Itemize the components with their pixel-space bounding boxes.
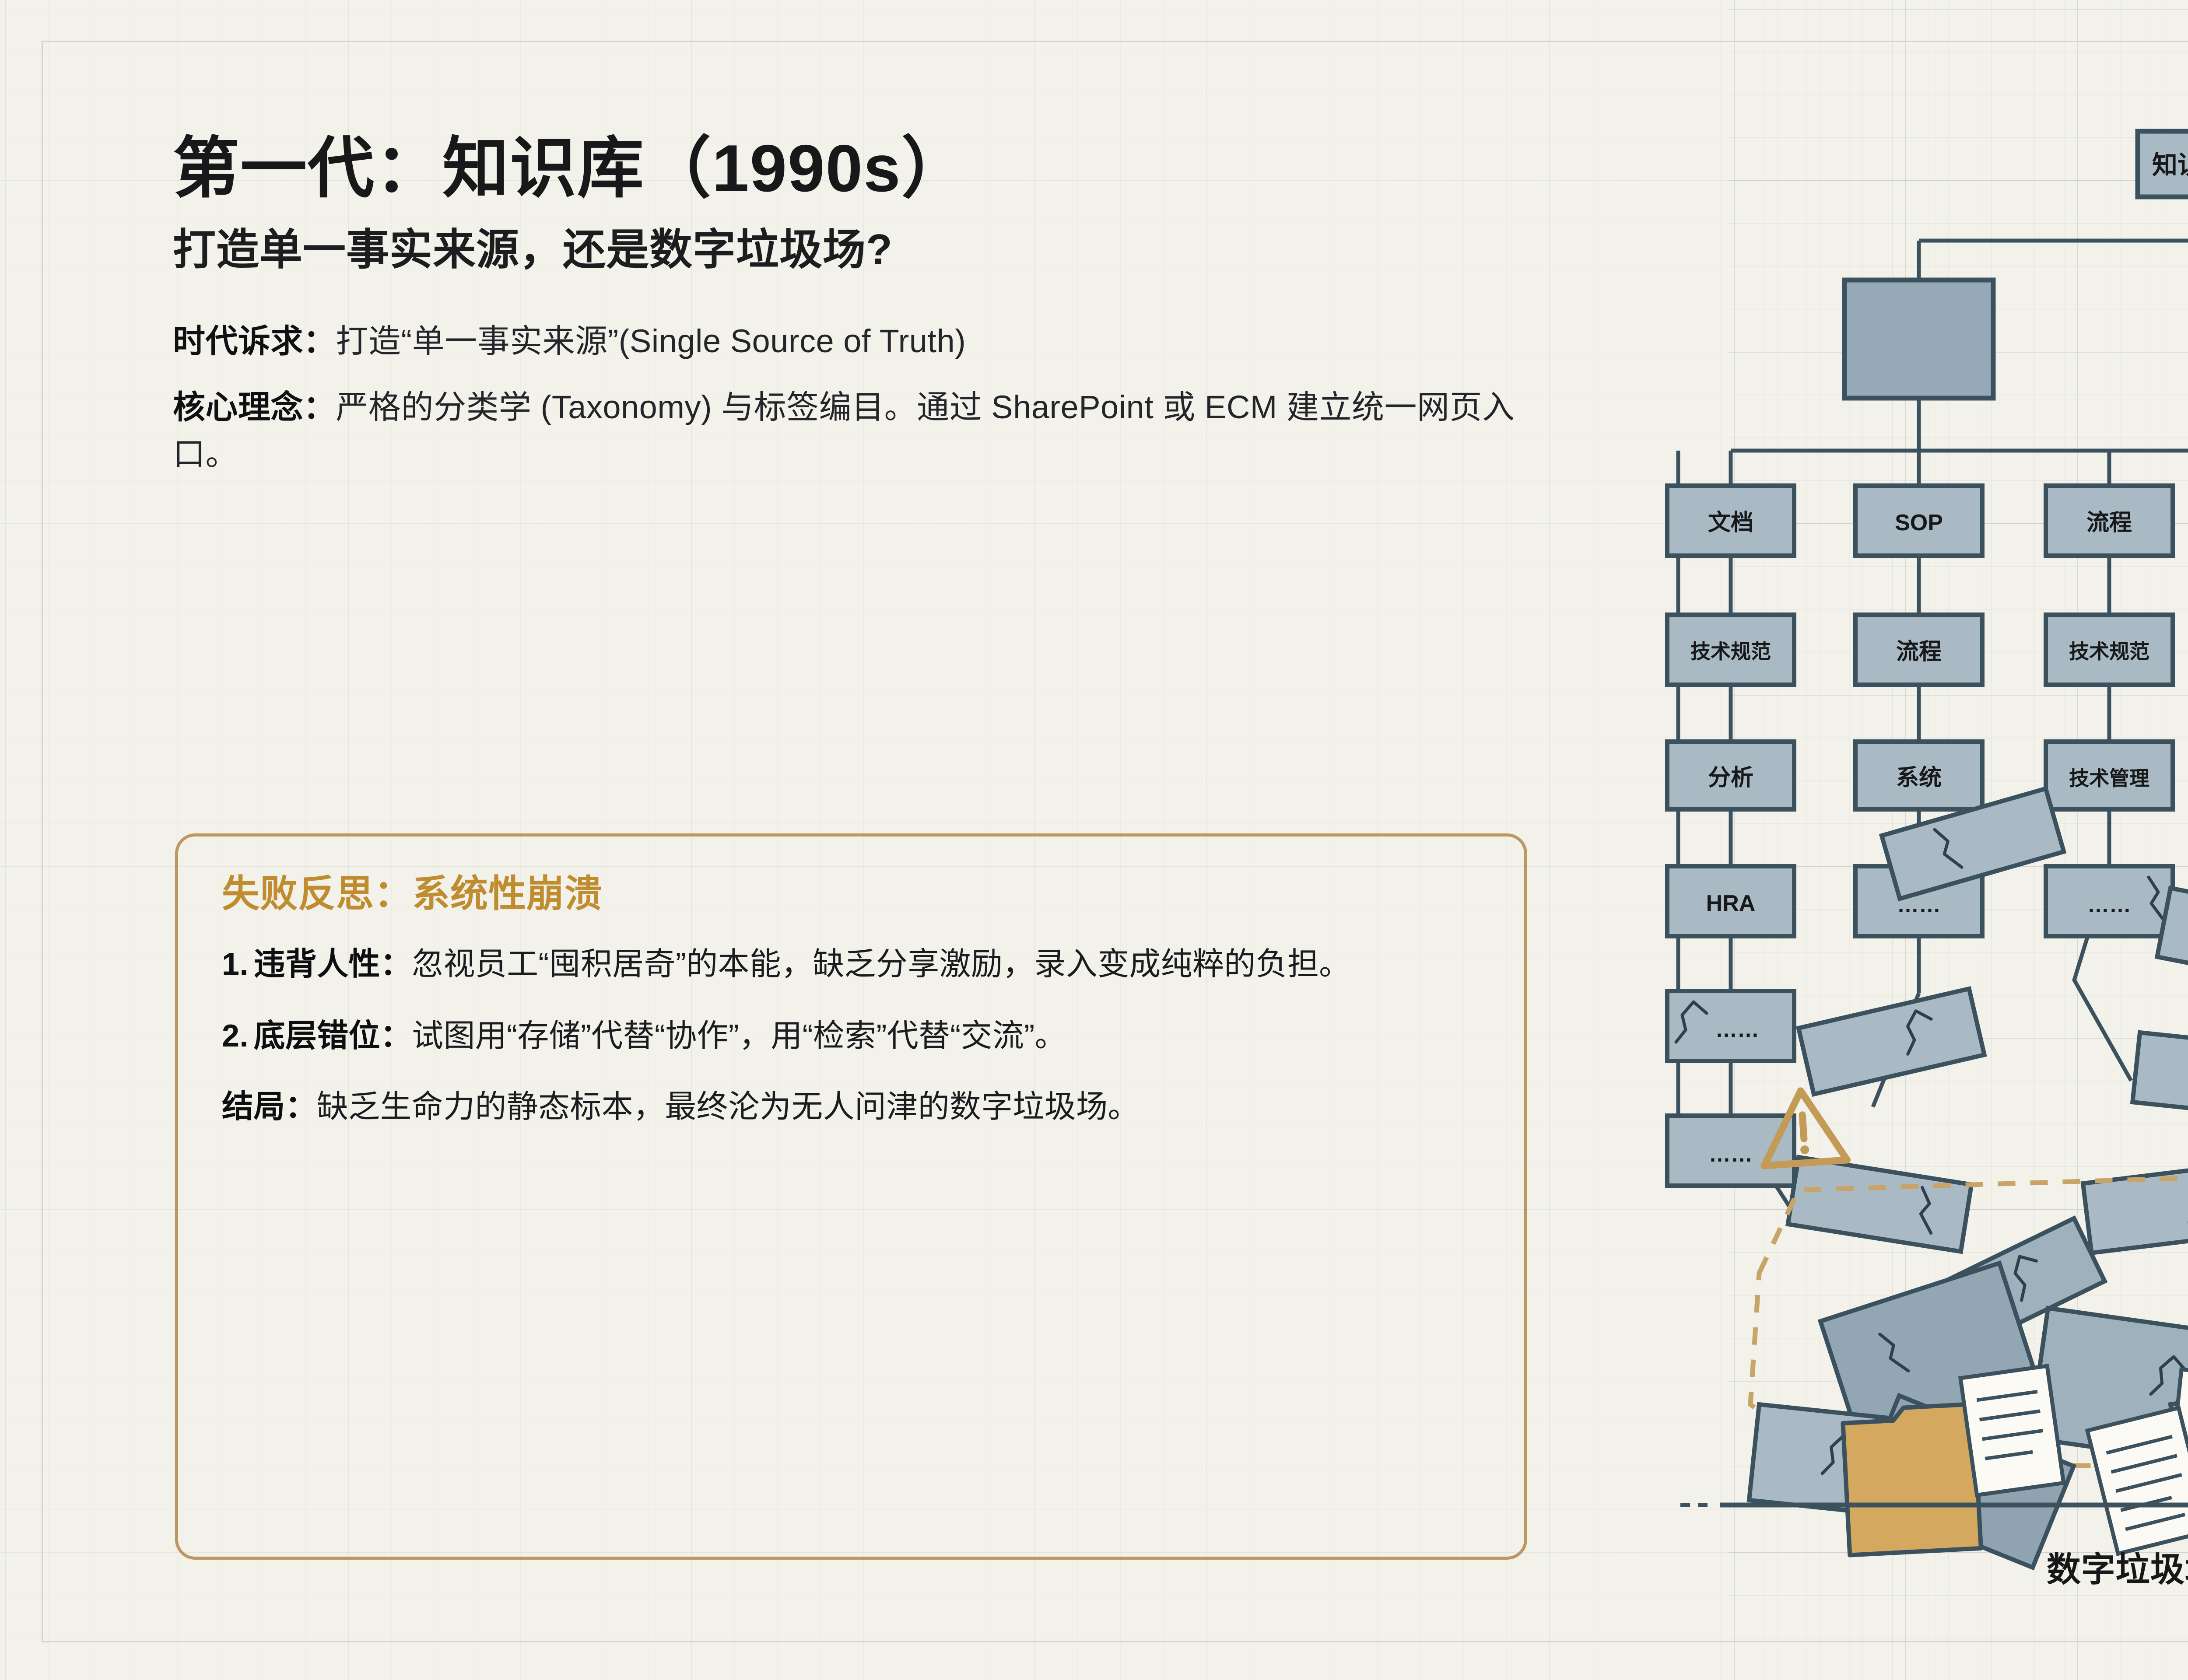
failure-reflection-callout: 失败反思：系统性崩溃 1. 违背人性：忽视员工“囤积居奇”的本能，缺乏分享激励，… [175, 833, 1527, 1560]
tree-node-level2-left [1844, 280, 1993, 398]
outcome-label: 结局： [222, 1089, 317, 1124]
svg-text:技术管理: 技术管理 [2069, 767, 2149, 790]
svg-text:知识库: 知识库 [2152, 151, 2188, 179]
fact-label-era-demand: 时代诉求： [173, 323, 336, 359]
callout-heading: 失败反思：系统性崩溃 [222, 873, 1480, 915]
reason-text: 违背人性：忽视员工“囤积居奇”的本能，缺乏分享激励，录入变成纯粹的负担。 [254, 942, 1480, 987]
left-content-column: 第一代：知识库（1990s） 打造单一事实来源，还是数字垃圾场? 时代诉求：打造… [173, 131, 1538, 478]
outcome-body: 缺乏生命力的静态标本，最终沦为无人问津的数字垃圾场。 [317, 1089, 1140, 1124]
svg-text:分析: 分析 [1708, 765, 1753, 791]
facts-block: 时代诉求：打造“单一事实来源”(Single Source of Truth) … [173, 318, 1538, 478]
slide-canvas: 第一代：知识库（1990s） 打造单一事实来源，还是数字垃圾场? 时代诉求：打造… [0, 0, 2188, 1680]
reason-bold-label: 底层错位： [254, 1018, 412, 1053]
reason-number: 2. [222, 1014, 249, 1058]
fact-body-era-demand: 打造“单一事实来源”(Single Source of Truth) [336, 323, 966, 359]
reason-body: 忽视员工“囤积居奇”的本能，缺乏分享激励，录入变成纯粹的负担。 [412, 947, 1350, 982]
reason-number: 1. [222, 942, 249, 987]
svg-text:……: …… [1709, 1142, 1753, 1166]
callout-reason-item: 2. 底层错位：试图用“存储”代替“协作”，用“检索”代替“交流”。 [222, 1014, 1480, 1058]
svg-text:流程: 流程 [1896, 639, 1942, 665]
svg-text:技术规范: 技术规范 [1690, 640, 1771, 663]
callout-reason-item: 1. 违背人性：忽视员工“囤积居奇”的本能，缺乏分享激励，录入变成纯粹的负担。 [222, 942, 1480, 987]
fact-label-core-idea: 核心理念： [173, 389, 336, 425]
diagram-caption: 数字垃圾场（Digital Landfill） [1654, 1542, 2188, 1591]
page-title: 第一代：知识库（1990s） [173, 131, 1538, 206]
svg-text:……: …… [2087, 892, 2131, 917]
reason-text: 底层错位：试图用“存储”代替“协作”，用“检索”代替“交流”。 [254, 1014, 1480, 1058]
callout-outcome: 结局：缺乏生命力的静态标本，最终沦为无人问津的数字垃圾场。 [222, 1085, 1480, 1129]
page-subtitle: 打造单一事实来源，还是数字垃圾场? [173, 224, 1538, 276]
svg-text:……: …… [1715, 1017, 1759, 1042]
svg-text:文档: 文档 [1708, 510, 1753, 535]
svg-text:系统: 系统 [1896, 765, 1942, 791]
reason-bold-label: 违背人性： [254, 947, 412, 982]
tree-row-5: …… [1667, 991, 1794, 1061]
digital-landfill-illustration: 知识库 文档 SOP 流程 技术规范 项目资料 项目资料 [1654, 66, 2188, 1623]
svg-text:HRA: HRA [1706, 891, 1756, 916]
tree-row-2: 技术规范 流程 技术规范 项目资料 项目资料 [1667, 615, 2188, 685]
svg-text:SOP: SOP [1895, 510, 1943, 535]
tree-node-root: 知识库 [2138, 131, 2188, 197]
tree-row-1: 文档 SOP 流程 技术规范 项目资料 项目资料 [1667, 486, 2188, 556]
fact-line-era-demand: 时代诉求：打造“单一事实来源”(Single Source of Truth) [173, 318, 1538, 364]
svg-text:技术规范: 技术规范 [2069, 640, 2149, 663]
svg-text:流程: 流程 [2086, 510, 2132, 535]
tree-row-3: 分析 系统 技术管理 等机…… [1667, 742, 2188, 809]
reason-body: 试图用“存储”代替“协作”，用“检索”代替“交流”。 [412, 1018, 1066, 1053]
fact-body-core-idea: 严格的分类学 (Taxonomy) 与标签编目。通过 SharePoint 或 … [173, 389, 1515, 472]
fact-line-core-idea: 核心理念：严格的分类学 (Taxonomy) 与标签编目。通过 SharePoi… [173, 384, 1538, 478]
